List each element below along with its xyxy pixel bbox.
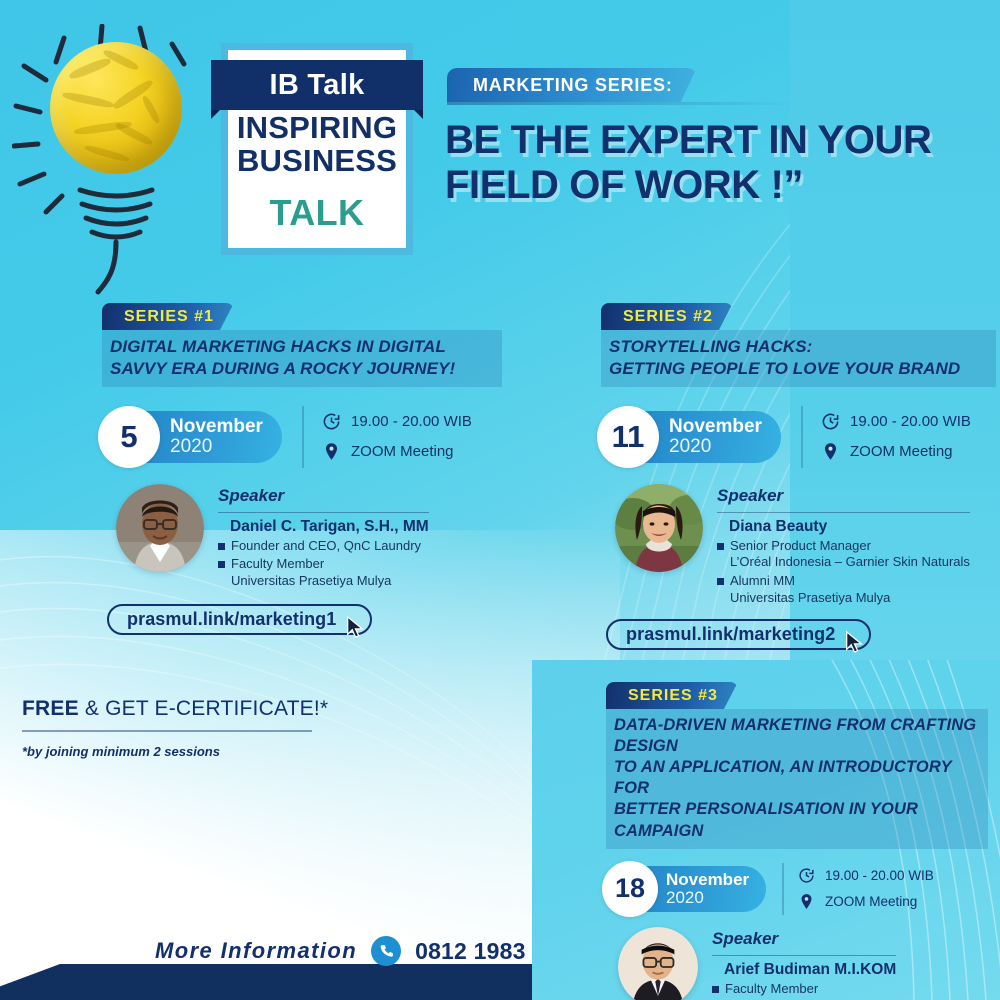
session-3-monthyear: November 2020 (666, 871, 749, 906)
avatar (615, 484, 703, 572)
clock-icon (821, 412, 840, 431)
session-3-platform-line: ZOOM Meeting (798, 893, 934, 910)
session-2-meta: 19.00 - 20.00 WIB ZOOM Meeting (821, 412, 971, 461)
session-2-month: November (669, 417, 762, 436)
session-3-time: 19.00 - 20.00 WIB (825, 868, 934, 883)
session-3-datetime-row: 18 November 2020 19.00 - 20.00 WIB (606, 863, 988, 915)
list-item: Founder and CEO, QnC Laundry (218, 538, 429, 555)
session-3-day: 18 (602, 861, 658, 917)
session-1-time: 19.00 - 20.00 WIB (351, 413, 472, 430)
speaker-name-3: Arief Budiman M.I.KOM (724, 961, 896, 979)
speaker-name-2: Diana Beauty (729, 518, 970, 536)
session-3-date-pill: 18 November 2020 (606, 866, 766, 912)
headline-line-1: BE THE EXPERT IN YOUR (445, 118, 995, 163)
location-pin-icon (322, 442, 341, 461)
session-2-datetime-row: 11 November 2020 19.00 - 20.00 WIB (601, 406, 996, 468)
session-2-platform: ZOOM Meeting (850, 443, 953, 460)
marketing-series-tab: MARKETING SERIES: (447, 68, 697, 102)
session-title-3-line1: DATA-DRIVEN MARKETING FROM CRAFTING DESI… (614, 715, 978, 757)
session-2-url-wrap: prasmul.link/marketing2 (606, 619, 996, 650)
session-title-3-line3: BETTER PERSONALISATION IN YOUR CAMPAIGN (614, 799, 978, 841)
speaker-label-1: Speaker (218, 486, 429, 510)
list-item: Senior Product Manager (717, 538, 970, 555)
bullet-text: Faculty Member (725, 981, 818, 998)
session-3-platform: ZOOM Meeting (825, 894, 917, 909)
registration-link-1-text: prasmul.link/marketing1 (127, 609, 336, 630)
session-title-1: DIGITAL MARKETING HACKS IN DIGITAL SAVVY… (102, 330, 502, 387)
session-1-date-pill: 5 November 2020 (102, 411, 282, 463)
clock-icon (322, 412, 341, 431)
registration-link-1[interactable]: prasmul.link/marketing1 (107, 604, 372, 635)
mouse-cursor-icon (843, 630, 865, 654)
session-title-2-line1: STORYTELLING HACKS: (609, 336, 986, 358)
crumpled-paper-ball (50, 42, 182, 174)
free-offer-divider (22, 730, 312, 732)
mouse-cursor-icon (344, 615, 366, 639)
free-offer-block: FREE & GET E-CERTIFICATE!* *by joining m… (22, 697, 452, 759)
session-3-time-line: 19.00 - 20.00 WIB (798, 867, 934, 884)
session-1-year: 2020 (170, 437, 263, 456)
session-1-month: November (170, 417, 263, 436)
session-2-date-pill: 11 November 2020 (601, 411, 781, 463)
logo-title-lines: INSPIRING BUSINESS (221, 112, 413, 178)
session-2-speaker-info: Speaker Diana Beauty Senior Product Mana… (717, 484, 970, 608)
free-rest-label: & GET E-CERTIFICATE!* (79, 697, 328, 720)
session-3-content: SERIES #3 DATA-DRIVEN MARKETING FROM CRA… (606, 682, 988, 1000)
session-card-series-1: SERIES #1 DIGITAL MARKETING HACKS IN DIG… (102, 303, 502, 635)
session-1-time-line: 19.00 - 20.00 WIB (322, 412, 472, 431)
series-badge-3: SERIES #3 (606, 682, 738, 709)
list-item: Faculty Member (218, 556, 429, 573)
lightbulb-icon (12, 24, 212, 304)
logo-ribbon: IB Talk (211, 60, 423, 110)
session-3-month: November (666, 871, 749, 888)
speaker-2-bullets: Senior Product Manager L’Oréal Indonesia… (717, 538, 970, 608)
session-2-time-line: 19.00 - 20.00 WIB (821, 412, 971, 431)
bullet-subtext: Universitas Prasetiya Mulya (231, 573, 429, 590)
logo-line-inspiring: INSPIRING (221, 112, 413, 145)
more-information-label: More Information (155, 938, 357, 964)
session-1-datetime-row: 5 November 2020 19.00 - 20.00 WIB (102, 406, 502, 468)
bullet-text: Senior Product Manager (730, 538, 871, 555)
session-1-divider (302, 406, 304, 468)
session-1-meta: 19.00 - 20.00 WIB ZOOM Meeting (322, 412, 472, 461)
speaker-1-bullets: Founder and CEO, QnC Laundry Faculty Mem… (218, 538, 429, 591)
headline-line-2: FIELD OF WORK !” (445, 163, 995, 208)
session-2-speaker-row: Speaker Diana Beauty Senior Product Mana… (615, 484, 996, 608)
session-2-day: 11 (597, 406, 659, 468)
session-1-day: 5 (98, 406, 160, 468)
session-2-monthyear: November 2020 (669, 417, 762, 456)
speaker-label-2: Speaker (717, 486, 970, 510)
bullet-text: Alumni MM (730, 573, 795, 590)
bullet-square-icon (712, 986, 719, 993)
location-pin-icon (798, 893, 815, 910)
session-3-speaker-info: Speaker Arief Budiman M.I.KOM Faculty Me… (712, 927, 896, 1000)
logo-line-business: BUSINESS (221, 145, 413, 178)
bullet-subtext: L’Oréal Indonesia – Garnier Skin Natural… (730, 554, 970, 571)
bullet-square-icon (218, 561, 225, 568)
series-badge-1: SERIES #1 (102, 303, 234, 330)
page-title: BE THE EXPERT IN YOUR FIELD OF WORK !” (445, 118, 995, 208)
footer-bar (0, 964, 540, 1000)
session-1-monthyear: November 2020 (170, 417, 263, 456)
location-pin-icon (821, 442, 840, 461)
free-offer-note: *by joining minimum 2 sessions (22, 744, 452, 759)
phone-icon (371, 936, 401, 966)
logo-line-talk: TALK (221, 192, 413, 234)
session-1-platform: ZOOM Meeting (351, 443, 454, 460)
session-title-1-line1: DIGITAL MARKETING HACKS IN DIGITAL (110, 336, 492, 358)
speaker-label-3: Speaker (712, 929, 896, 953)
speaker-3-bullets: Faculty Member Universitas Prasetiya Mul… (712, 981, 896, 1000)
session-1-url-wrap: prasmul.link/marketing1 (107, 604, 502, 635)
free-offer-headline: FREE & GET E-CERTIFICATE!* (22, 697, 452, 721)
session-3-meta: 19.00 - 20.00 WIB ZOOM Meeting (798, 867, 934, 910)
bullet-square-icon (218, 543, 225, 550)
free-label: FREE (22, 697, 79, 720)
speaker-name-1: Daniel C. Tarigan, S.H., MM (230, 518, 429, 536)
registration-link-2[interactable]: prasmul.link/marketing2 (606, 619, 871, 650)
list-item: Faculty Member (712, 981, 896, 998)
session-title-2: STORYTELLING HACKS: GETTING PEOPLE TO LO… (601, 330, 996, 387)
session-3-speaker-row: Speaker Arief Budiman M.I.KOM Faculty Me… (618, 927, 988, 1000)
bullet-text: Founder and CEO, QnC Laundry (231, 538, 421, 555)
session-1-platform-line: ZOOM Meeting (322, 442, 472, 461)
session-title-1-line2: SAVVY ERA DURING A ROCKY JOURNEY! (110, 358, 492, 380)
more-information-block: More Information 0812 1983 1982 (155, 936, 584, 966)
bullet-square-icon (717, 543, 724, 550)
session-card-series-3: SERIES #3 DATA-DRIVEN MARKETING FROM CRA… (532, 660, 1000, 1000)
session-title-3-line2: TO AN APPLICATION, AN INTRODUCTORY FOR (614, 757, 978, 799)
session-2-platform-line: ZOOM Meeting (821, 442, 971, 461)
bullet-subtext: Universitas Prasetiya Mulya (730, 590, 970, 607)
avatar (618, 927, 698, 1000)
session-3-year: 2020 (666, 889, 749, 906)
speaker-rule-2 (717, 512, 970, 513)
session-title-3: DATA-DRIVEN MARKETING FROM CRAFTING DESI… (606, 709, 988, 849)
session-1-speaker-row: Speaker Daniel C. Tarigan, S.H., MM Foun… (116, 484, 502, 591)
header-divider (447, 102, 797, 105)
clock-icon (798, 867, 815, 884)
poster-canvas: IB Talk INSPIRING BUSINESS TALK MARKETIN… (0, 0, 1000, 1000)
session-title-2-line2: GETTING PEOPLE TO LOVE YOUR BRAND (609, 358, 986, 380)
series-badge-2: SERIES #2 (601, 303, 733, 330)
session-2-year: 2020 (669, 437, 762, 456)
session-2-time: 19.00 - 20.00 WIB (850, 413, 971, 430)
session-2-divider (801, 406, 803, 468)
session-1-speaker-info: Speaker Daniel C. Tarigan, S.H., MM Foun… (218, 484, 429, 591)
bullet-text: Faculty Member (231, 556, 324, 573)
session-card-series-2: SERIES #2 STORYTELLING HACKS: GETTING PE… (601, 303, 996, 650)
registration-link-2-text: prasmul.link/marketing2 (626, 624, 835, 645)
avatar (116, 484, 204, 572)
list-item: Alumni MM (717, 573, 970, 590)
session-3-divider (782, 863, 784, 915)
bullet-square-icon (717, 578, 724, 585)
speaker-rule-1 (218, 512, 429, 513)
speaker-rule-3 (712, 955, 896, 956)
